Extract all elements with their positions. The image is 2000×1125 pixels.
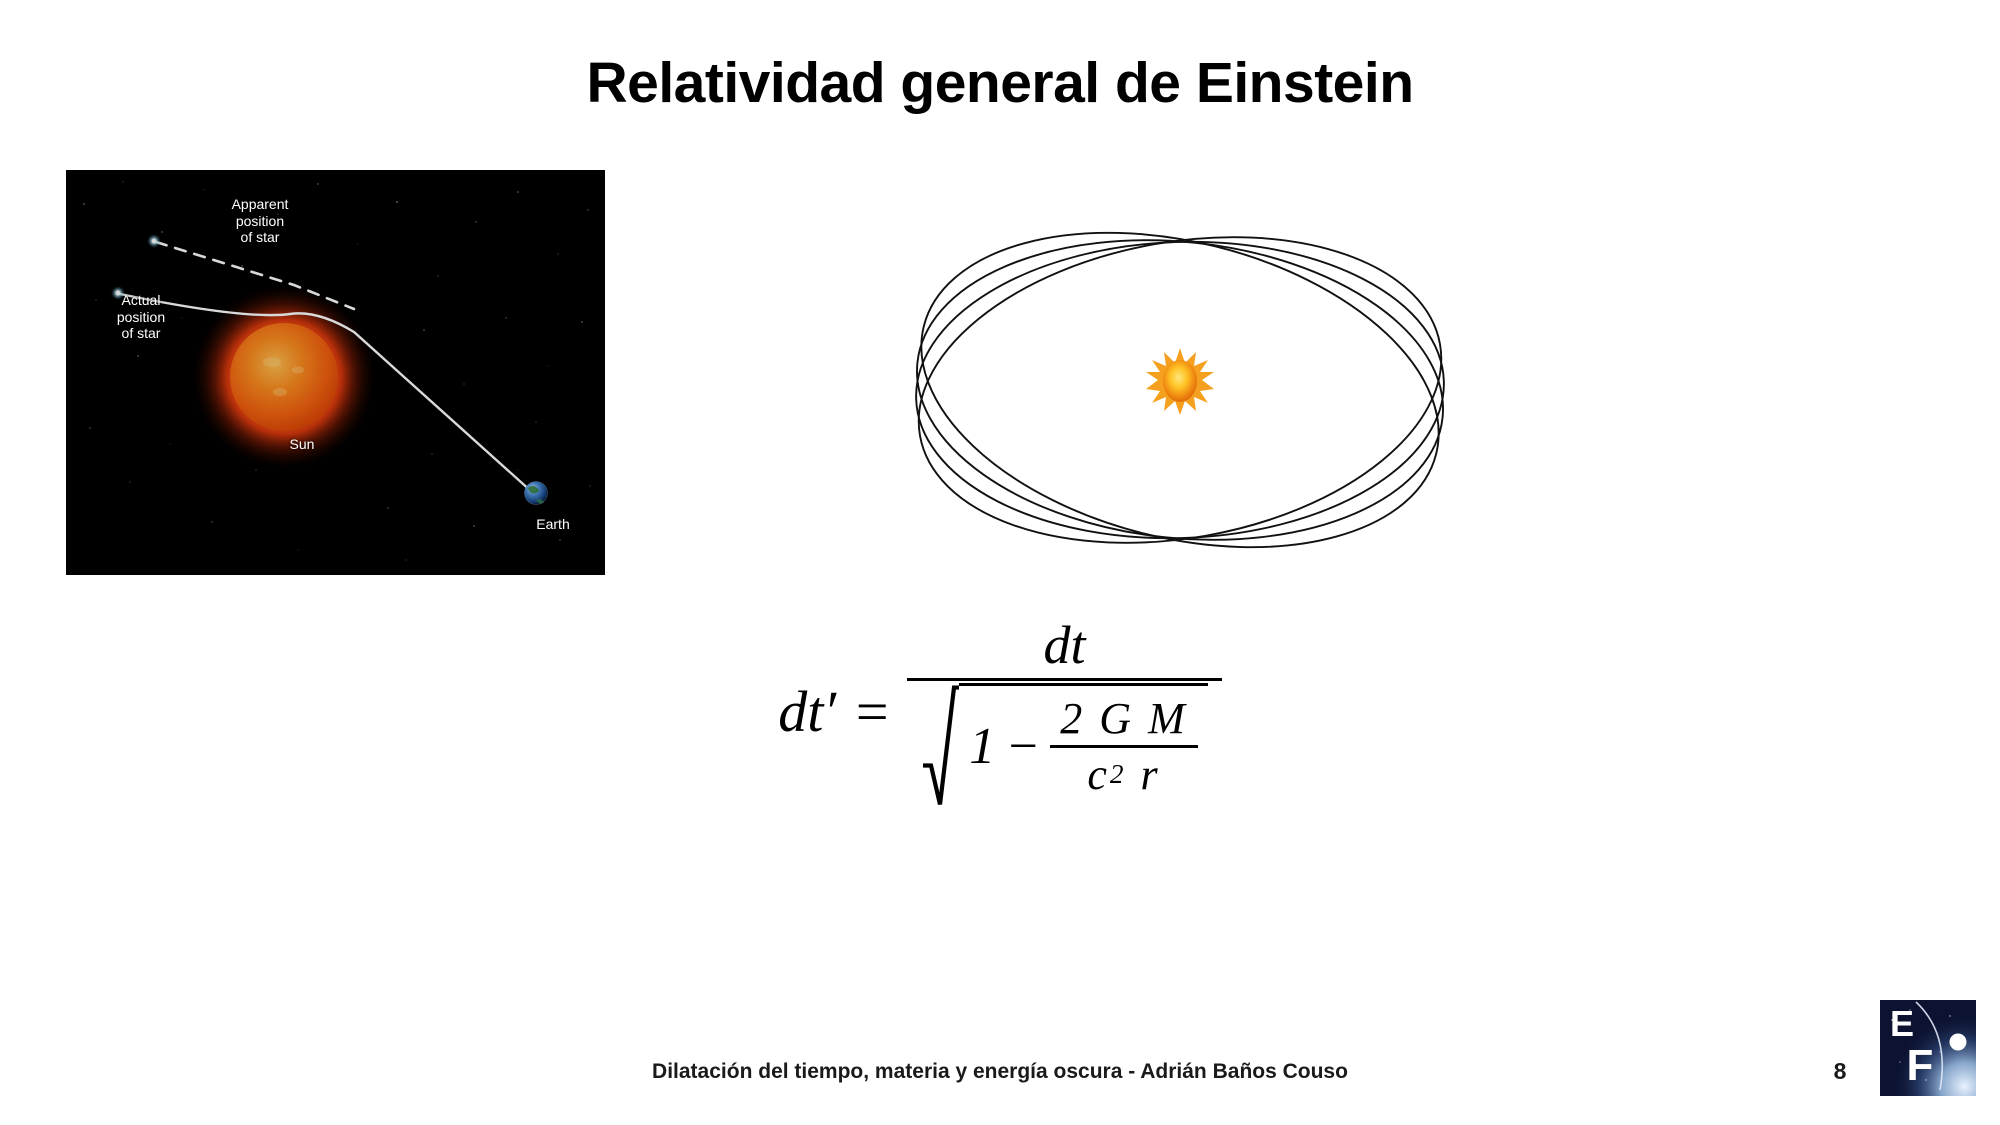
sun-label: Sun <box>242 436 362 453</box>
ef-logo-svg: E F <box>1880 1000 1976 1096</box>
gravitational-lensing-figure: Apparent position of star Actual positio… <box>66 170 605 575</box>
formula-lhs: dt′ <box>778 678 836 745</box>
ef-logo: E F <box>1880 1000 1976 1096</box>
apparent-position-label: Apparent position of star <box>198 196 322 246</box>
logo-letter-f: F <box>1907 1041 1934 1090</box>
logo-letter-e: E <box>1890 1003 1914 1044</box>
formula-equals: = <box>846 678 897 745</box>
outer-numerator: dt <box>907 612 1222 678</box>
radicand: 1 − 2 G M c2 r <box>959 683 1208 809</box>
starfield-background <box>66 170 605 575</box>
page-title: Relatividad general de Einstein <box>0 52 2000 115</box>
footer-caption: Dilatación del tiempo, materia y energía… <box>0 1060 2000 1084</box>
outer-fraction: dt 1 − 2 G M c2 r <box>907 612 1222 811</box>
earth-label: Earth <box>498 516 605 533</box>
time-dilation-formula: dt′ = dt 1 − 2 G M <box>778 612 1221 811</box>
radical-icon <box>921 683 959 809</box>
orbit-sun-icon <box>1146 348 1214 415</box>
actual-position-label: Actual position of star <box>86 292 196 342</box>
orbit-precession-svg <box>880 205 1540 575</box>
inner-fraction: 2 G M c2 r <box>1050 692 1197 801</box>
earth-globe <box>525 482 548 505</box>
radicand-one: 1 <box>969 717 995 776</box>
radicand-minus: − <box>1005 717 1040 776</box>
apparent-star-point <box>147 234 161 248</box>
formula-container: dt′ = dt 1 − 2 G M <box>0 612 2000 811</box>
square-root-expression: 1 − 2 G M c2 r <box>921 683 1208 809</box>
precessing-orbit-figure <box>880 205 1540 575</box>
inner-denominator: c2 r <box>1050 748 1197 801</box>
outer-denominator: 1 − 2 G M c2 r <box>907 681 1222 811</box>
inner-numerator: 2 G M <box>1050 692 1197 745</box>
page-number: 8 <box>1820 1058 1860 1085</box>
